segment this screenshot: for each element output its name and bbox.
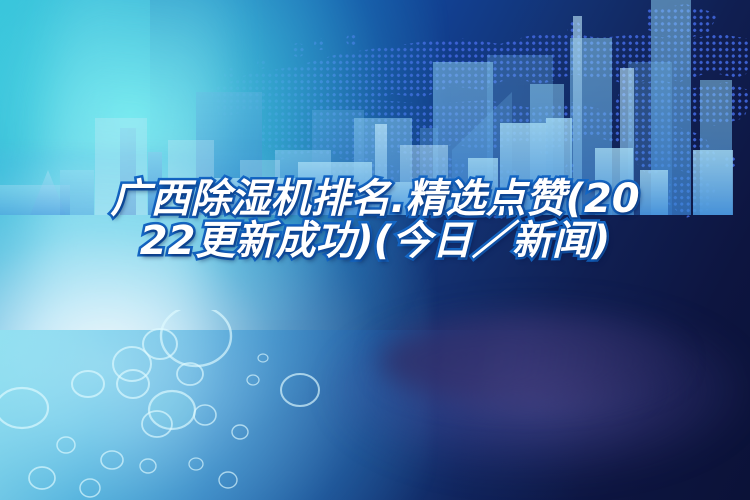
banner-title: 广西除湿机排名.精选点赞(2022更新成功)(今日／新闻) <box>108 178 642 262</box>
promo-banner: 广西除湿机排名.精选点赞(2022更新成功)(今日／新闻) <box>0 0 750 500</box>
banner-title-wrap: 广西除湿机排名.精选点赞(2022更新成功)(今日／新闻) <box>108 178 642 262</box>
bubble-cluster-icon <box>0 310 430 500</box>
